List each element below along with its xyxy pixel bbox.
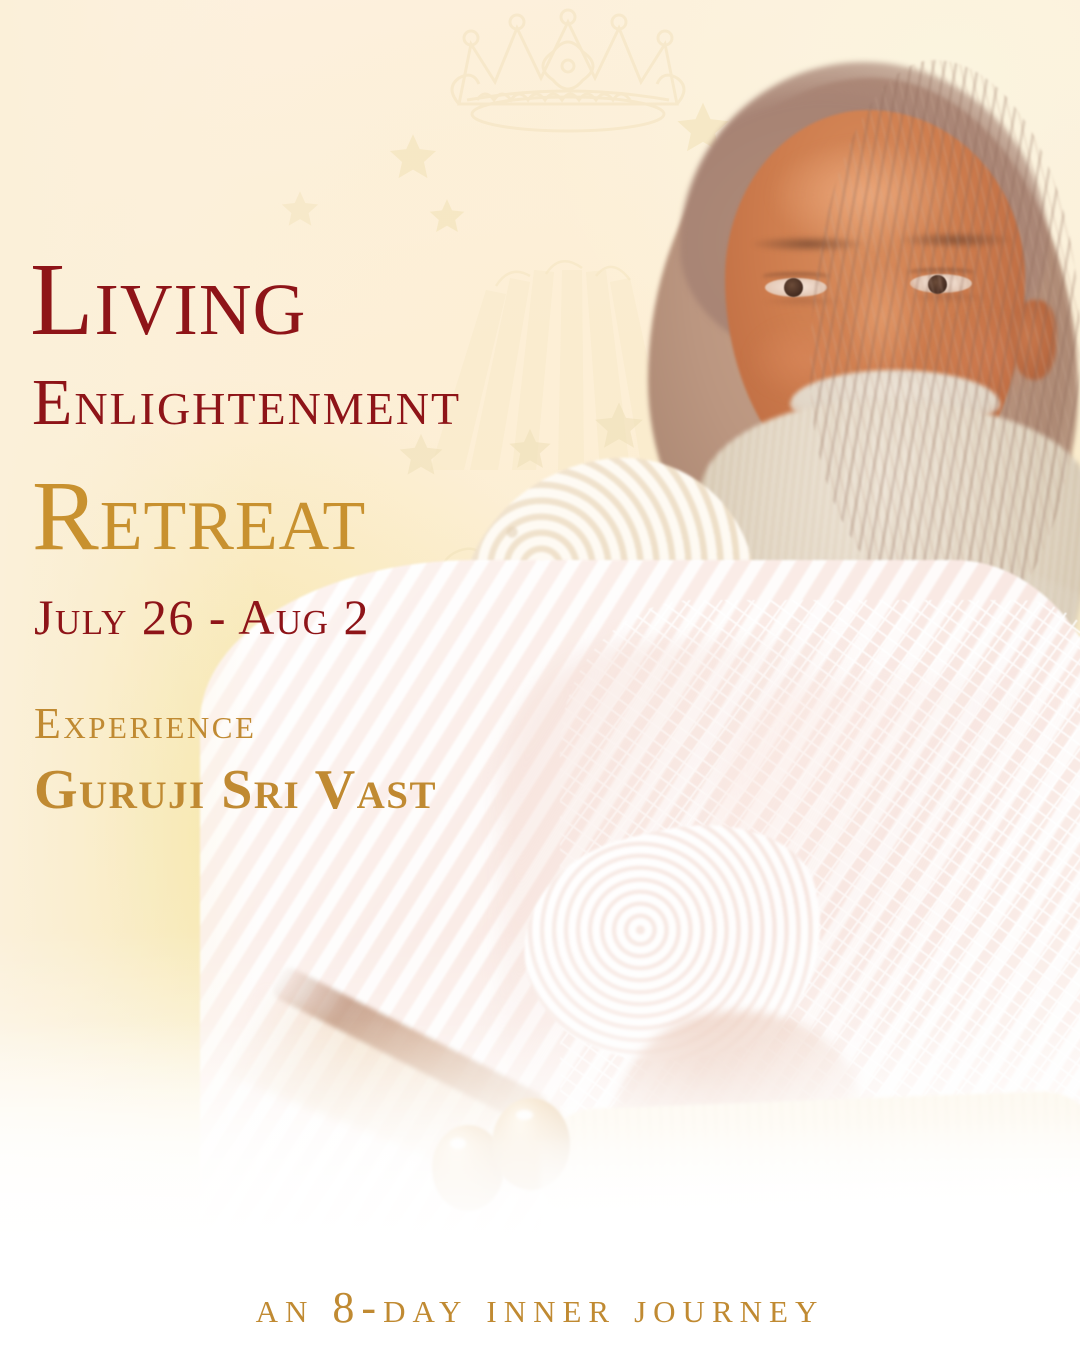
presenter-prefix: Experience [34,702,256,746]
presenter-name: Guruji Sri Vast [34,762,437,818]
headline-line-1: Living [30,248,306,352]
tagline: an 8-day inner journey [0,1282,1080,1333]
hair-strands [810,60,1080,620]
headline-line-2: Enlightenment [32,370,461,436]
headline-line-3: Retreat [32,466,366,566]
event-dates: July 26 - Aug 2 [34,592,370,642]
poster-canvas: Living Enlightenment Retreat July 26 - A… [0,0,1080,1350]
iris-left [784,278,803,297]
